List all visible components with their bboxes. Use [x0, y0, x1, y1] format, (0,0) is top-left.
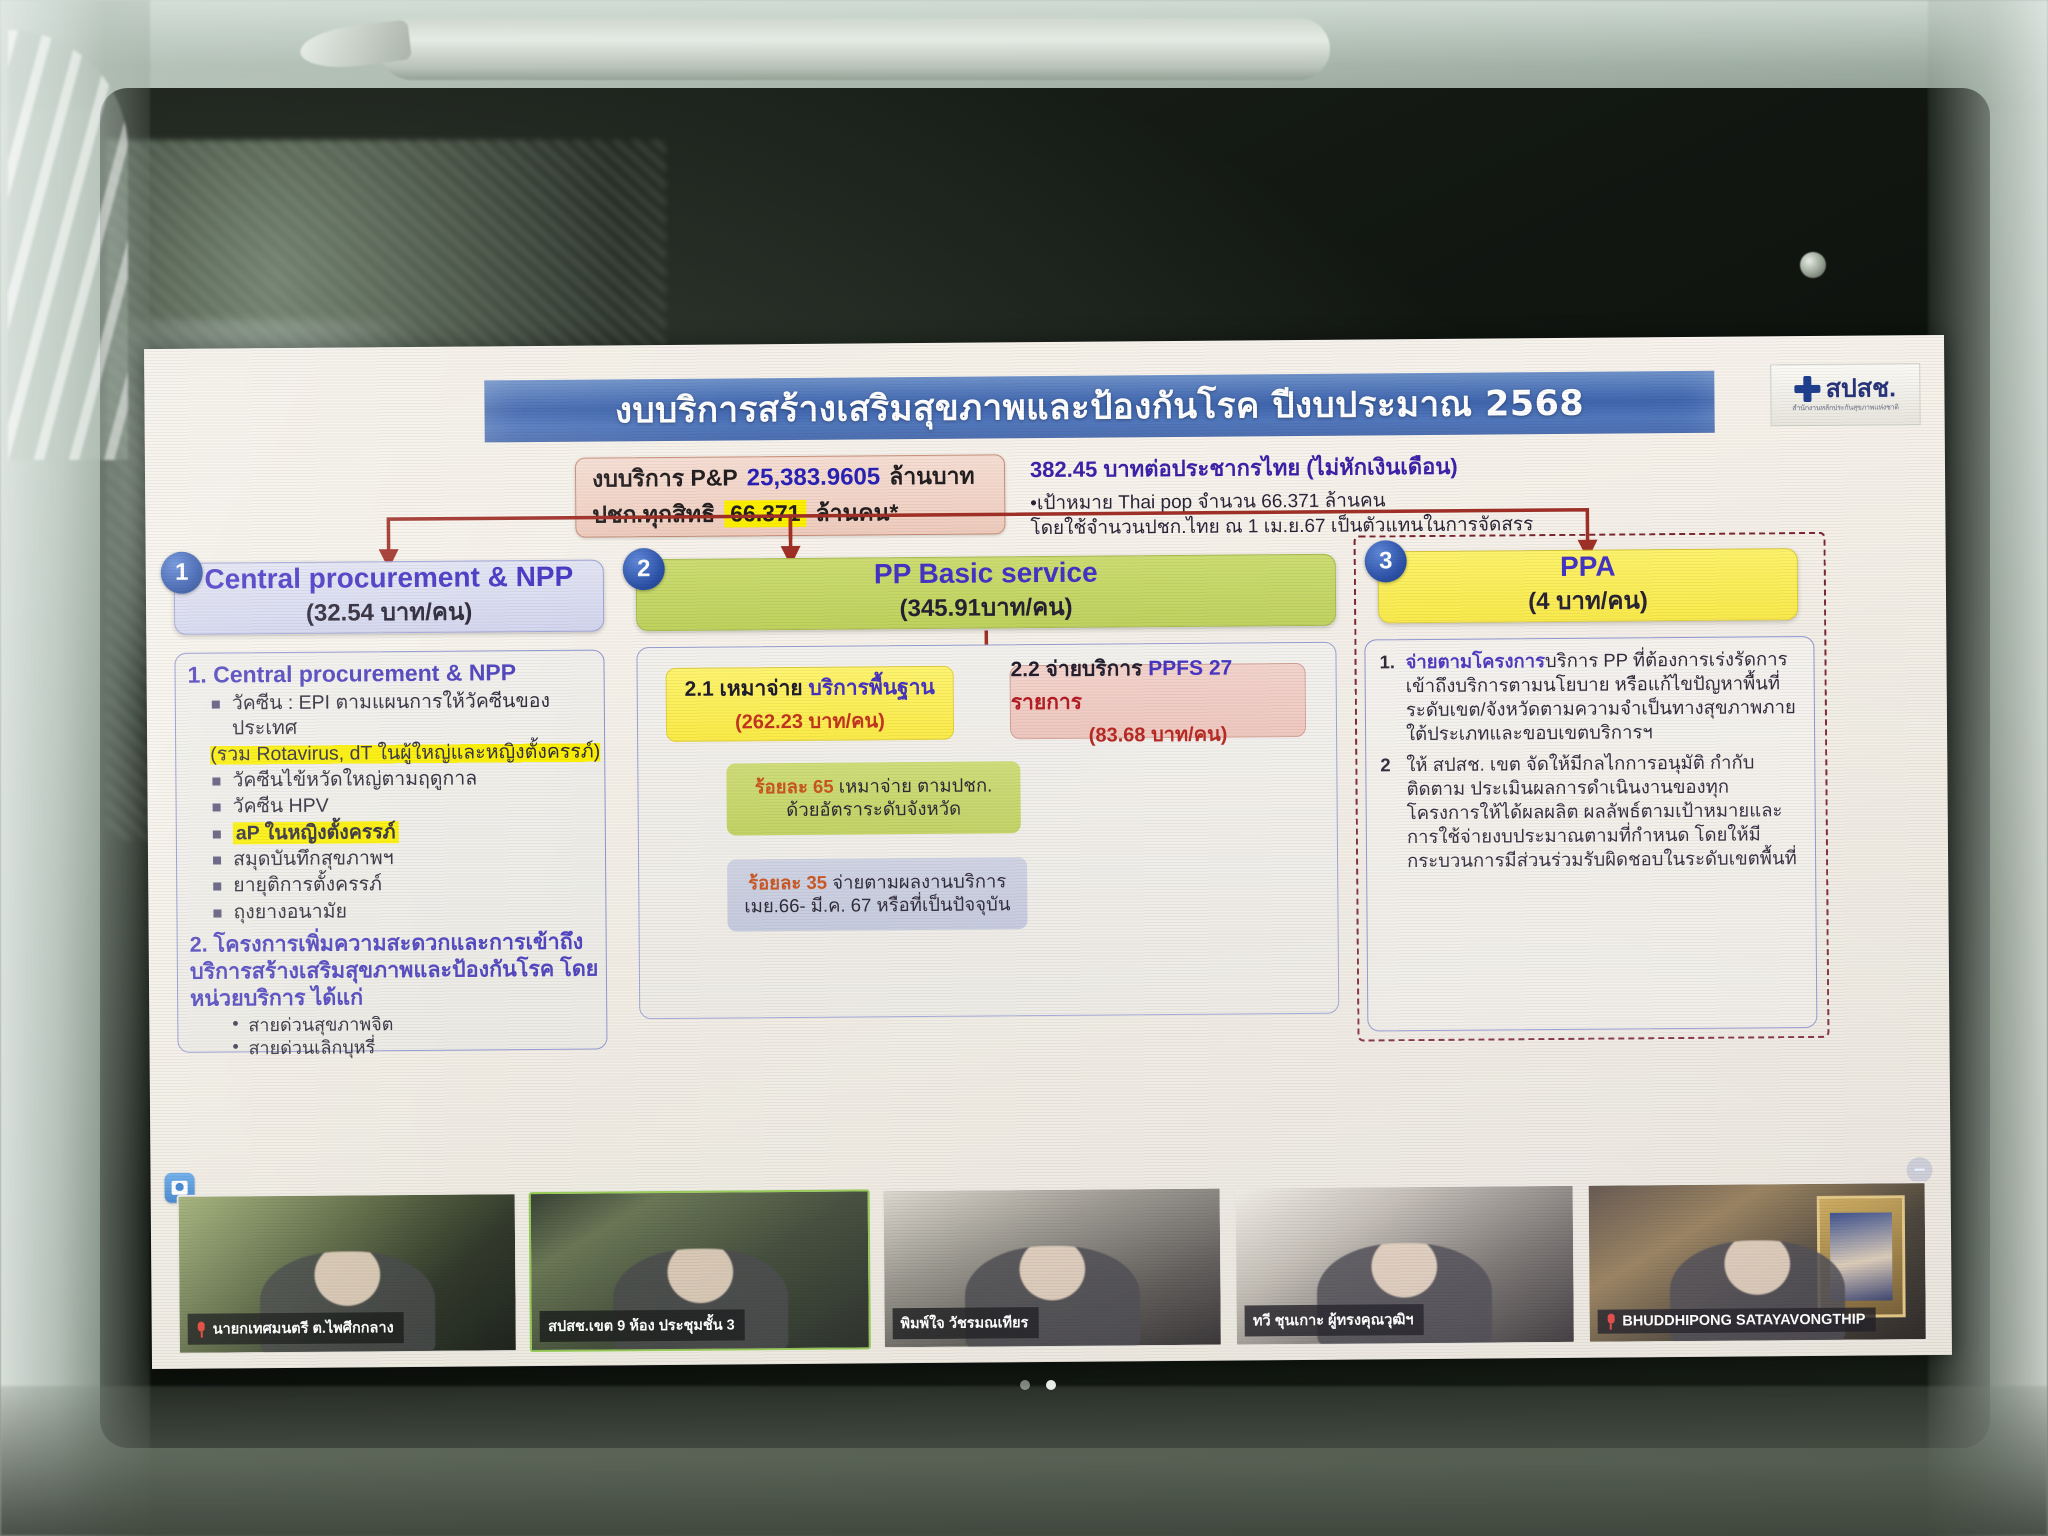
list-item: 1.จ่ายตามโครงการบริการ PP ที่ต้องการเร่ง… — [1379, 647, 1800, 746]
list-item: ถุงยางอนามัย — [211, 897, 605, 925]
video-tile[interactable]: นายกเทศมนตรี ต.ไพศีกกลาง — [177, 1192, 519, 1355]
box-65-percent[interactable]: ร้อยละ 65 เหมาจ่าย ตามปชก. ด้วยอัตราระดั… — [726, 761, 1021, 835]
page-dot[interactable] — [1020, 1380, 1030, 1390]
participant-name-badge: นายกเทศมนตรี ต.ไพศีกกลาง — [188, 1312, 404, 1345]
list-item: สมุดบันทึกสุขภาพฯ — [211, 845, 605, 873]
box-2-2-ppfs[interactable]: 2.2 จ่ายบริการ PPFS 27 รายการ (83.68 บาท… — [1010, 663, 1307, 739]
box-35-line-1: ร้อยละ 35 จ่ายตามผลงานบริการ — [748, 870, 1006, 895]
item-text: วัคซีน : EPI ตามแผนการให้วัคซีนของประเทศ — [232, 690, 550, 740]
summary-line-budget: งบบริการ P&P 25,383.9605 ล้านบาท — [592, 458, 988, 497]
panel-ppa: 1.จ่ายตามโครงการบริการ PP ที่ต้องการเร่ง… — [1364, 636, 1817, 1032]
column-1-title: Central procurement & NPP — [204, 562, 573, 594]
box-2-1-title-prefix: 2.1 เหมาจ่าย — [684, 676, 808, 700]
column-3-subtitle: (4 บาท/คน) — [1528, 580, 1648, 620]
per-capita-annotation: 382.45 บาทต่อประชากรไทย (ไม่หักเงินเดือน… — [1030, 448, 1551, 541]
photograph-of-tablet: งบบริการสร้างเสริมสุขภาพและป้องกันโรค ปี… — [0, 0, 2048, 1536]
list-item: วัคซีนไข้หวัดใหญ่ตามฤดูกาล — [210, 766, 604, 794]
box-2-1-title: 2.1 เหมาจ่าย บริการพื้นฐาน — [684, 670, 935, 705]
box-2-2-title-accent-2: รายการ — [1011, 691, 1082, 715]
video-tile[interactable]: สปสช.เขต 9 ห้อง ประชุมชั้น 3 — [529, 1189, 871, 1352]
case-left-ribs — [8, 30, 128, 460]
minimize-icon[interactable]: − — [1906, 1157, 1932, 1183]
budget-summary-box: งบบริการ P&P 25,383.9605 ล้านบาท ปชก.ทุก… — [575, 454, 1006, 537]
participant-name: BHUDDHIPONG SATAYAVONGTHIP — [1622, 1312, 1865, 1330]
box-2-1-title-accent: บริการพื้นฐาน — [808, 675, 935, 699]
list-item: วัคซีน HPV — [211, 792, 605, 820]
participant-name-badge: พิมพ์ใจ วัชรมณเทียร — [892, 1307, 1038, 1339]
list-item: ยายุติการตั้งครรภ์ — [211, 871, 605, 899]
column-badge-1: 1 — [161, 552, 203, 594]
video-tile[interactable]: พิมพ์ใจ วัชรมณเทียร — [881, 1187, 1223, 1350]
microphone-icon — [1605, 1314, 1616, 1330]
column-header-central-procurement[interactable]: 1 Central procurement & NPP (32.54 บาท/ค… — [174, 559, 605, 634]
box-65-percent-accent: ร้อยละ 65 — [755, 776, 834, 798]
video-participant-strip: นายกเทศมนตรี ต.ไพศีกกลาง สปสช.เขต 9 ห้อง… — [177, 1181, 1928, 1355]
list-item: 2ให้ สปสช. เขต จัดให้มีกลไกการอนุมัติ กำ… — [1380, 750, 1801, 874]
participant-name: ทวี ชุนเกาะ ผู้ทรงคุณวุฒิฯ — [1253, 1308, 1414, 1332]
summary-pop-value: 66.371 — [724, 500, 807, 528]
column-badge-3: 3 — [1365, 540, 1407, 582]
box-2-2-title-prefix: 2.2 จ่ายบริการ — [1010, 657, 1148, 681]
item-number: 2 — [1380, 753, 1390, 777]
medical-cross-icon — [1795, 376, 1821, 402]
summary-pop-label: ปชก.ทุกสิทธิ — [592, 497, 715, 534]
presentation-slide[interactable]: งบบริการสร้างเสริมสุขภาพและป้องกันโรค ปี… — [144, 335, 1952, 1369]
panel-1-heading-2: 2. โครงการเพิ่มความสะดวกและการเข้าถึง บร… — [190, 929, 607, 1013]
logo-name: สปสช. — [1826, 376, 1897, 402]
column-2-subtitle: (345.91บาท/คน) — [899, 587, 1072, 627]
panel-1-list: วัคซีน : EPI ตามแผนการให้วัคซีนของประเทศ… — [210, 688, 606, 925]
video-tile[interactable]: ทวี ชุนเกาะ ผู้ทรงคุณวุฒิฯ — [1234, 1184, 1576, 1347]
box-65-line-2: ด้วยอัตราระดับจังหวัด — [786, 798, 961, 822]
item-accent: จ่ายตามโครงการ — [1405, 650, 1545, 672]
tablet-camera — [1800, 252, 1826, 278]
column-2-title: PP Basic service — [874, 557, 1098, 588]
item-text-continued: (รวม Rotavirus, dT ในผู้ใหญ่และหญิงตั้งค… — [210, 740, 600, 765]
summary-pop-unit: ล้านคน* — [815, 495, 898, 532]
box-2-2-rate: (83.68 บาท/คน) — [1089, 718, 1228, 751]
box-2-1-rate: (262.23 บาท/คน) — [735, 704, 885, 737]
logo-subtitle: สำนักงานหลักประกันสุขภาพแห่งชาติ — [1792, 402, 1899, 414]
box-35-line-2: เมย.66- มี.ค. 67 หรือที่เป็นปัจจุบัน — [744, 893, 1010, 918]
list-item: สายด่วนสุขภาพจิต — [232, 1012, 606, 1038]
panel-3-list: 1.จ่ายตามโครงการบริการ PP ที่ต้องการเร่ง… — [1379, 647, 1801, 874]
panel-central-procurement: 1. Central procurement & NPP วัคซีน : EP… — [174, 649, 607, 1052]
list-item: วัคซีน : EPI ตามแผนการให้วัคซีนของประเทศ… — [210, 688, 605, 767]
column-3-title: PPA — [1560, 551, 1616, 581]
box-65-line-1: ร้อยละ 65 เหมาจ่าย ตามปชก. — [755, 774, 993, 799]
list-item-highlighted: aP ในหญิงตั้งครรภ์ — [211, 818, 605, 846]
nhso-logo: สปสช. สำนักงานหลักประกันสุขภาพแห่งชาติ — [1770, 363, 1920, 426]
per-capita-headline: 382.45 บาทต่อประชากรไทย (ไม่หักเงินเดือน… — [1030, 448, 1550, 487]
page-dot-active[interactable] — [1046, 1380, 1056, 1390]
participant-name-badge: BHUDDHIPONG SATAYAVONGTHIP — [1597, 1308, 1875, 1334]
panel-1-sublist: สายด่วนสุขภาพจิต สายด่วนเลิกบุหรี่ — [232, 1012, 606, 1060]
slide-title: งบบริการสร้างเสริมสุขภาพและป้องกันโรค ปี… — [615, 375, 1585, 438]
video-tile[interactable]: BHUDDHIPONG SATAYAVONGTHIP — [1586, 1181, 1928, 1344]
box-35-percent-accent: ร้อยละ 35 — [748, 872, 827, 894]
item-text: aP ในหญิงตั้งครรภ์ — [233, 821, 399, 844]
stylus — [380, 18, 1330, 80]
box-2-1-capitation[interactable]: 2.1 เหมาจ่าย บริการพื้นฐาน (262.23 บาท/ค… — [666, 666, 955, 742]
item-number: 1. — [1379, 650, 1395, 674]
box-2-2-title-accent: PPFS 27 — [1148, 657, 1232, 681]
column-badge-2: 2 — [623, 548, 665, 590]
column-header-ppa[interactable]: 3 PPA (4 บาท/คน) — [1378, 548, 1799, 623]
column-header-pp-basic-service[interactable]: 2 PP Basic service (345.91บาท/คน) — [636, 554, 1337, 631]
item-text: ให้ สปสช. เขต จัดให้มีกลไกการอนุมัติ กำก… — [1406, 752, 1797, 872]
summary-budget-unit: ล้านบาท — [889, 459, 975, 496]
panel-pp-basic-service: 2.1 เหมาจ่าย บริการพื้นฐาน (262.23 บาท/ค… — [636, 642, 1339, 1019]
summary-line-population: ปชก.ทุกสิทธิ 66.371 ล้านคน* — [592, 494, 988, 533]
participant-name: นายกเทศมนตรี ต.ไพศีกกลาง — [213, 1316, 394, 1340]
column-1-subtitle: (32.54 บาท/คน) — [306, 592, 473, 632]
summary-budget-label: งบบริการ P&P — [592, 460, 738, 497]
person-glyph-icon — [172, 1181, 188, 1195]
page-indicator-dots[interactable] — [1020, 1380, 1056, 1390]
box-2-2-title: 2.2 จ่ายบริการ PPFS 27 รายการ — [1010, 651, 1305, 719]
participant-name-badge: สปสช.เขต 9 ห้อง ประชุมชั้น 3 — [540, 1309, 745, 1342]
panel-1-heading: 1. Central procurement & NPP — [187, 658, 603, 688]
participant-name-badge: ทวี ชุนเกาะ ผู้ทรงคุณวุฒิฯ — [1245, 1304, 1424, 1336]
slide-title-bar: งบบริการสร้างเสริมสุขภาพและป้องกันโรค ปี… — [484, 371, 1714, 443]
participant-name: สปสช.เขต 9 ห้อง ประชุมชั้น 3 — [548, 1313, 735, 1337]
participant-name: พิมพ์ใจ วัชรมณเทียร — [900, 1311, 1028, 1335]
box-35-line-1-rest: จ่ายตามผลงานบริการ — [827, 870, 1006, 892]
box-35-percent[interactable]: ร้อยละ 35 จ่ายตามผลงานบริการ เมย.66- มี.… — [727, 857, 1028, 931]
summary-budget-value: 25,383.9605 — [747, 463, 881, 492]
case-bottom-edge — [0, 1386, 2048, 1536]
list-item: สายด่วนเลิกบุหรี่ — [232, 1034, 606, 1060]
microphone-icon — [196, 1321, 207, 1337]
box-65-line-1-rest: เหมาจ่าย ตามปชก. — [833, 774, 992, 796]
